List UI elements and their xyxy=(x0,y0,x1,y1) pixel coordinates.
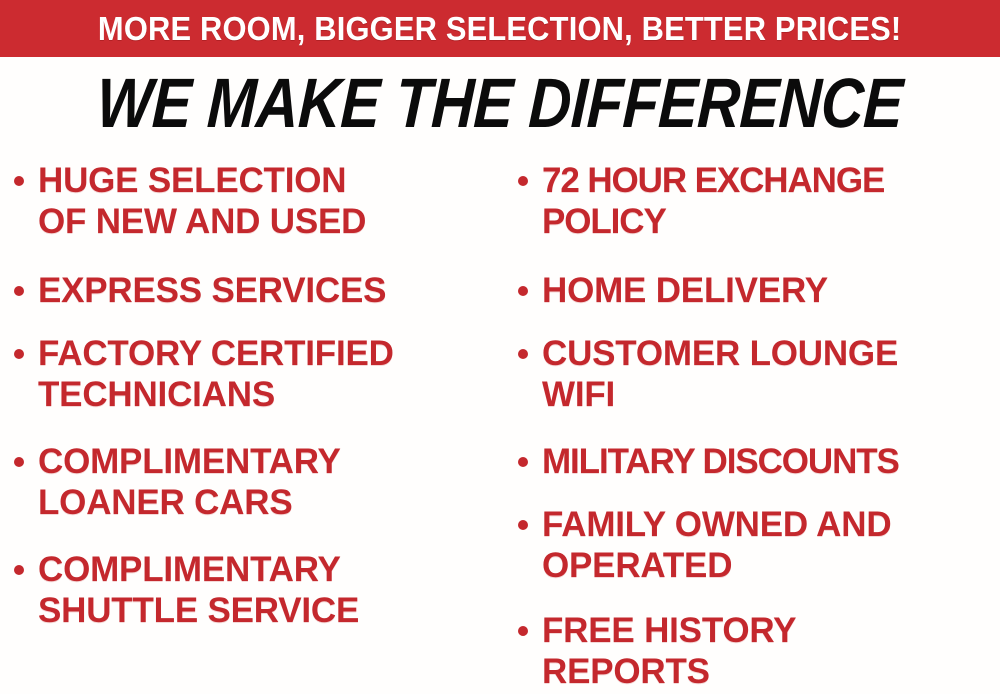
top-banner: MORE ROOM, BIGGER SELECTION, BETTER PRIC… xyxy=(0,0,1000,57)
list-item-label: COMPLIMENTARY LOANER CARS xyxy=(38,441,341,523)
benefits-column-right: 72 HOUR EXCHANGE POLICY HOME DELIVERY CU… xyxy=(518,160,1000,694)
list-item: COMPLIMENTARY LOANER CARS xyxy=(14,441,506,523)
bullet-dot-icon xyxy=(518,176,528,186)
benefits-column-left: HUGE SELECTION OF NEW AND USED EXPRESS S… xyxy=(14,160,506,657)
list-item: EXPRESS SERVICES xyxy=(14,270,506,311)
bullet-dot-icon xyxy=(14,176,24,186)
list-item-label: FAMILY OWNED AND OPERATED xyxy=(542,504,891,586)
list-item-label: EXPRESS SERVICES xyxy=(38,270,386,311)
list-item: HOME DELIVERY xyxy=(518,270,1000,311)
bullet-dot-icon xyxy=(518,520,528,530)
list-item: MILITARY DISCOUNTS xyxy=(518,441,1000,482)
dealership-benefits-poster: MORE ROOM, BIGGER SELECTION, BETTER PRIC… xyxy=(0,0,1000,694)
bullet-dot-icon xyxy=(518,349,528,359)
bullet-dot-icon xyxy=(518,626,528,636)
list-item: FACTORY CERTIFIED TECHNICIANS xyxy=(14,333,506,415)
page-title: WE MAKE THE DIFFERENCE xyxy=(96,68,905,138)
list-item-label: COMPLIMENTARY SHUTTLE SERVICE xyxy=(38,549,359,631)
list-item-label: HOME DELIVERY xyxy=(542,270,828,311)
list-item-label: MILITARY DISCOUNTS xyxy=(542,441,899,482)
list-item: FREE HISTORY REPORTS xyxy=(518,610,1000,692)
list-item-label: CUSTOMER LOUNGE WIFI xyxy=(542,333,898,415)
list-item: 72 HOUR EXCHANGE POLICY xyxy=(518,160,1000,242)
bullet-dot-icon xyxy=(14,457,24,467)
list-item-label: 72 HOUR EXCHANGE POLICY xyxy=(542,160,884,242)
list-item: COMPLIMENTARY SHUTTLE SERVICE xyxy=(14,549,506,631)
headline-container: WE MAKE THE DIFFERENCE xyxy=(0,66,1000,140)
banner-headline-text: MORE ROOM, BIGGER SELECTION, BETTER PRIC… xyxy=(98,12,901,45)
list-item-label: HUGE SELECTION OF NEW AND USED xyxy=(38,160,366,242)
bullet-dot-icon xyxy=(14,565,24,575)
list-item: FAMILY OWNED AND OPERATED xyxy=(518,504,1000,586)
bullet-dot-icon xyxy=(518,457,528,467)
bullet-dot-icon xyxy=(518,286,528,296)
list-item-label: FREE HISTORY REPORTS xyxy=(542,610,796,692)
bullet-dot-icon xyxy=(14,286,24,296)
bullet-dot-icon xyxy=(14,349,24,359)
benefits-columns: HUGE SELECTION OF NEW AND USED EXPRESS S… xyxy=(0,160,1000,694)
list-item-label: FACTORY CERTIFIED TECHNICIANS xyxy=(38,333,394,415)
list-item: HUGE SELECTION OF NEW AND USED xyxy=(14,160,506,242)
list-item: CUSTOMER LOUNGE WIFI xyxy=(518,333,1000,415)
